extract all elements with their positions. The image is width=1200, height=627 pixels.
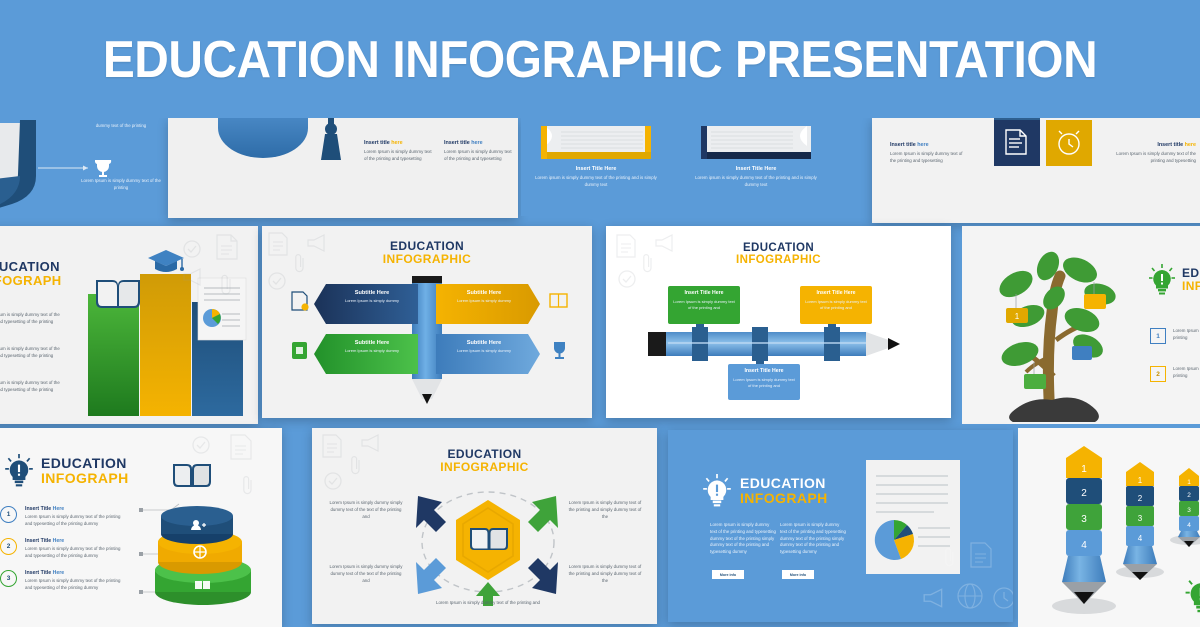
check-circle-doodle — [192, 436, 210, 454]
hex-callout-bottom-right: Lorem Ipsum is simply dummy text of the … — [566, 564, 644, 584]
more-info-button-1[interactable]: More info — [712, 570, 744, 579]
slide-arrow-banners[interactable]: EDUCATION INFOGRAPHIC — [262, 226, 592, 418]
arrow-banner-4-text: Subtitle Here Lorem Ipsum is simply dumm… — [442, 340, 526, 354]
paperclip-doodle — [350, 456, 363, 476]
book-item-2: Insert Title Here Lorem ipsum is simply … — [695, 166, 817, 189]
slide-cylinder-stack[interactable]: EDUCATION INFOGRAPH 1 Insert Title Here … — [0, 428, 282, 627]
cyl-item-1[interactable]: 1 Insert Title Here Lorem Ipsum is simpl… — [0, 506, 125, 528]
slide-graduation-cap[interactable]: Insert title here Lorem Ipsum is simply … — [168, 118, 518, 218]
slide-two-books[interactable]: Insert Title Here Lorem ipsum is simply … — [521, 118, 869, 216]
bar-chart-item-3: Lorem Ipsum is simply dummy text of the … — [0, 380, 62, 400]
pencil-h-card-green[interactable]: Insert Title Here Lorem Ipsum is simply … — [668, 286, 740, 324]
hexagon-arrows-art — [408, 486, 568, 606]
tree-tag-bulb — [1084, 294, 1106, 309]
svg-text:2: 2 — [1138, 494, 1143, 503]
slide-icon-tiles[interactable]: Insert title here Lorem Ipsum is simply … — [872, 118, 1200, 223]
check-circle-doodle — [324, 472, 342, 490]
hex-callout-top-right: Lorem Ipsum is simply dummy text of the … — [566, 500, 644, 520]
lightbulb-icon — [702, 474, 732, 508]
svg-text:2: 2 — [1081, 488, 1087, 499]
money-bag-icon — [292, 342, 307, 359]
trophy-icon — [554, 342, 565, 359]
bar-chart-art — [68, 236, 258, 424]
cyl-item-1-body: Lorem Ipsum is simply dummy text of the … — [25, 514, 125, 528]
book-item-2-title: Insert Title Here — [695, 166, 817, 172]
arrow-banner-2-text: Subtitle Here Lorem Ipsum is simply dumm… — [442, 290, 526, 304]
page-title: EDUCATION INFOGRAPHIC PRESENTATION — [48, 30, 1152, 90]
svg-text:1: 1 — [1187, 479, 1191, 486]
bar-chart-item-1: Lorem Ipsum is simply dummy text of the … — [0, 312, 62, 332]
pencil-h-card-yellow[interactable]: Insert Title Here Lorem Ipsum is simply … — [800, 286, 872, 324]
megaphone-doodle — [182, 268, 204, 286]
svg-text:3: 3 — [1081, 514, 1087, 525]
slide-tree[interactable]: 1 EDUCATION INFOGR — [962, 226, 1200, 424]
svg-text:1: 1 — [1138, 476, 1143, 485]
pencil-2: 1 2 3 4 — [1116, 462, 1164, 580]
blue-column-1: Lorem Ipsum is simply dummy text of the … — [710, 522, 776, 556]
cyl-item-3-title: Insert Title Here — [25, 570, 125, 576]
blue-column-2: Lorem Ipsum is simply dummy text of the … — [780, 522, 846, 556]
arrow-banner-3-text: Subtitle Here Lorem Ipsum is simply dumm… — [330, 340, 414, 354]
icon-tiles-right-title: Insert title here — [1112, 142, 1196, 148]
vertical-pencils-art: 1 2 3 4 1 2 3 4 — [1022, 436, 1200, 624]
icon-tiles-art — [992, 118, 1102, 170]
document-doodle — [322, 434, 342, 458]
grad-cap-title-2: Insert title here — [444, 140, 514, 146]
blue-heading-row: EDUCATION INFOGRAPH — [702, 474, 828, 508]
title-banner: EDUCATION INFOGRAPHIC PRESENTATION — [0, 0, 1200, 118]
book-trophy-art — [0, 118, 165, 218]
grad-cap-col-2: Insert title here Lorem Ipsum is simply … — [444, 140, 514, 163]
megaphone-doodle — [306, 234, 328, 252]
certificate-icon — [292, 292, 309, 311]
globe-doodle — [956, 582, 984, 610]
slide-blue-document[interactable]: EDUCATION INFOGRAPH Lorem Ipsum is simpl… — [668, 430, 1013, 622]
svg-text:4: 4 — [1187, 522, 1191, 529]
tree-tag-book — [1072, 346, 1092, 360]
cyl-item-3[interactable]: 3 Insert Title Here Lorem Ipsum is simpl… — [0, 570, 125, 592]
grad-cap-col-1: Insert title here Lorem Ipsum is simply … — [364, 140, 436, 163]
bar-chart-item-2: Lorem Ipsum is simply dummy text of the … — [0, 346, 62, 366]
cyl-item-3-number: 3 — [0, 570, 17, 587]
svg-text:1: 1 — [1015, 312, 1020, 321]
cyl-item-1-number: 1 — [0, 506, 17, 523]
cyl-item-2-body: Lorem Ipsum is simply dummy text of the … — [25, 546, 125, 560]
bar-2 — [140, 274, 191, 416]
bar-chart-heading: EDUCATION INFOGRAPH — [0, 260, 62, 287]
icon-tiles-right-text: Insert title here Lorem Ipsum is simply … — [1112, 142, 1196, 165]
grad-cap-body-1: Lorem Ipsum is simply dummy text of the … — [364, 149, 436, 163]
megaphone-doodle — [922, 588, 946, 608]
book-trophy-bottom-text: Lorem Ipsum is simply dummy text of the … — [78, 178, 164, 192]
paperclip-doodle — [242, 476, 255, 496]
document-doodle — [970, 542, 992, 568]
tree-art: 1 — [976, 236, 1146, 422]
cyl-item-2-title: Insert Title Here — [25, 538, 125, 544]
document-doodle — [268, 232, 288, 256]
arrow-banner-1-text: Subtitle Here Lorem Ipsum is simply dumm… — [330, 290, 414, 304]
cyl-item-1-title: Insert Title Here — [25, 506, 125, 512]
book-item-1-title: Insert Title Here — [535, 166, 657, 172]
cyl-heading-row: EDUCATION INFOGRAPH — [4, 454, 129, 488]
graduation-cap-art — [168, 118, 518, 218]
tree-item-1-body: Lorem Ipsum is simply dummy text of the … — [1173, 328, 1200, 342]
clock-doodle — [992, 586, 1013, 610]
pencil-h-card-blue[interactable]: Insert Title Here Lorem Ipsum is simply … — [728, 364, 800, 400]
svg-text:4: 4 — [1138, 534, 1143, 543]
bar-1 — [88, 294, 139, 416]
slide-book-trophy[interactable]: dummy text of the printing Lorem Ipsum i… — [0, 118, 165, 218]
lightbulb-icon — [1184, 576, 1200, 614]
id-card-icon — [550, 294, 567, 307]
paperclip-doodle — [642, 254, 655, 274]
blue-heading: EDUCATION INFOGRAPH — [740, 476, 828, 505]
paperclip-doodle — [220, 274, 234, 296]
slide-bar-chart[interactable]: EDUCATION INFOGRAPH Lorem Ipsum is simpl… — [0, 226, 258, 424]
slide-vertical-pencils[interactable]: 1 2 3 4 1 2 3 4 — [1018, 428, 1200, 627]
tree-list-item-2[interactable]: 2 Lorem Ipsum is simply dummy text of th… — [1150, 366, 1200, 382]
arrow-top-right — [528, 496, 558, 532]
svg-text:2: 2 — [1187, 492, 1191, 499]
lightbulb-icon — [4, 454, 34, 488]
svg-text:3: 3 — [1187, 507, 1191, 514]
paperclip-doodle — [294, 254, 307, 274]
document-doodle — [616, 234, 636, 258]
check-circle-doodle — [183, 240, 201, 258]
hex-callout-bottom-left: Lorem Ipsum is simply dummy simply dummy… — [328, 564, 404, 584]
cyl-item-3-body: Lorem Ipsum is simply dummy text of the … — [25, 578, 125, 592]
icon-tiles-left-title: Insert title here — [890, 142, 968, 148]
tree-item-2-body: Lorem Ipsum is simply dummy text of the … — [1173, 366, 1200, 380]
icon-tiles-right-body: Lorem Ipsum is simply dummy text of the … — [1112, 151, 1196, 165]
tree-item-1-number: 1 — [1150, 328, 1166, 344]
tree-tag-pencil — [1024, 374, 1046, 389]
hex-callout-bottom: Lorem Ipsum is simply dummy text of the … — [434, 600, 542, 607]
hex-callout-top-left: Lorem Ipsum is simply dummy simply dummy… — [328, 500, 404, 520]
book-item-1: Insert Title Here Lorem ipsum is simply … — [535, 166, 657, 189]
lightbulb-icon — [1148, 264, 1176, 296]
svg-text:1: 1 — [1081, 464, 1087, 475]
paperclip-doodle — [944, 548, 957, 568]
svg-text:4: 4 — [1081, 540, 1087, 551]
cyl-heading: EDUCATION INFOGRAPH — [41, 456, 129, 485]
megaphone-doodle — [654, 234, 676, 252]
arrow-bottom-right — [528, 558, 558, 594]
icon-tiles-left-body: Lorem Ipsum is simply dummy text of the … — [890, 151, 968, 165]
book-item-2-body: Lorem ipsum is simply dummy text of the … — [695, 175, 817, 189]
document-doodle — [216, 234, 238, 260]
grad-cap-title-1: Insert title here — [364, 140, 436, 146]
megaphone-doodle — [360, 434, 382, 452]
arrow-banners-art — [262, 276, 592, 418]
tree-heading: EDUCATION INFOGR — [1182, 267, 1200, 292]
tree-item-2-number: 2 — [1150, 366, 1166, 382]
svg-text:3: 3 — [1138, 514, 1143, 523]
slide-hexagon-arrows[interactable]: EDUCATION INFOGRAPHIC — [312, 428, 657, 624]
cyl-item-2-number: 2 — [0, 538, 17, 555]
arrow-top-left — [416, 496, 446, 532]
slide-horizontal-pencil[interactable]: EDUCATION INFOGRAPHIC Insert Title Here — [606, 226, 951, 418]
check-circle-doodle — [268, 272, 286, 290]
pencil-3: 1 2 3 4 — [1170, 468, 1200, 547]
pencil-1: 1 2 3 4 — [1052, 446, 1116, 614]
document-doodle — [230, 434, 252, 460]
grad-cap-body-2: Lorem Ipsum is simply dummy text of the … — [444, 149, 514, 163]
tree-list-item-1[interactable]: 1 Lorem Ipsum is simply dummy text of th… — [1150, 328, 1200, 344]
cyl-item-2[interactable]: 2 Insert Title Here Lorem Ipsum is simpl… — [0, 538, 125, 560]
check-circle-doodle — [618, 270, 636, 288]
book-item-1-body: Lorem ipsum is simply dummy text of the … — [535, 175, 657, 189]
tree-heading-row: EDUCATION INFOGR — [1148, 264, 1200, 296]
book-trophy-top-text: dummy text of the printing — [80, 123, 162, 130]
arrow-bottom-left — [416, 558, 446, 594]
infographic-collage: dummy text of the printing Lorem Ipsum i… — [0, 0, 1200, 627]
icon-tiles-left-text: Insert title here Lorem Ipsum is simply … — [890, 142, 968, 165]
more-info-button-2[interactable]: More info — [782, 570, 814, 579]
